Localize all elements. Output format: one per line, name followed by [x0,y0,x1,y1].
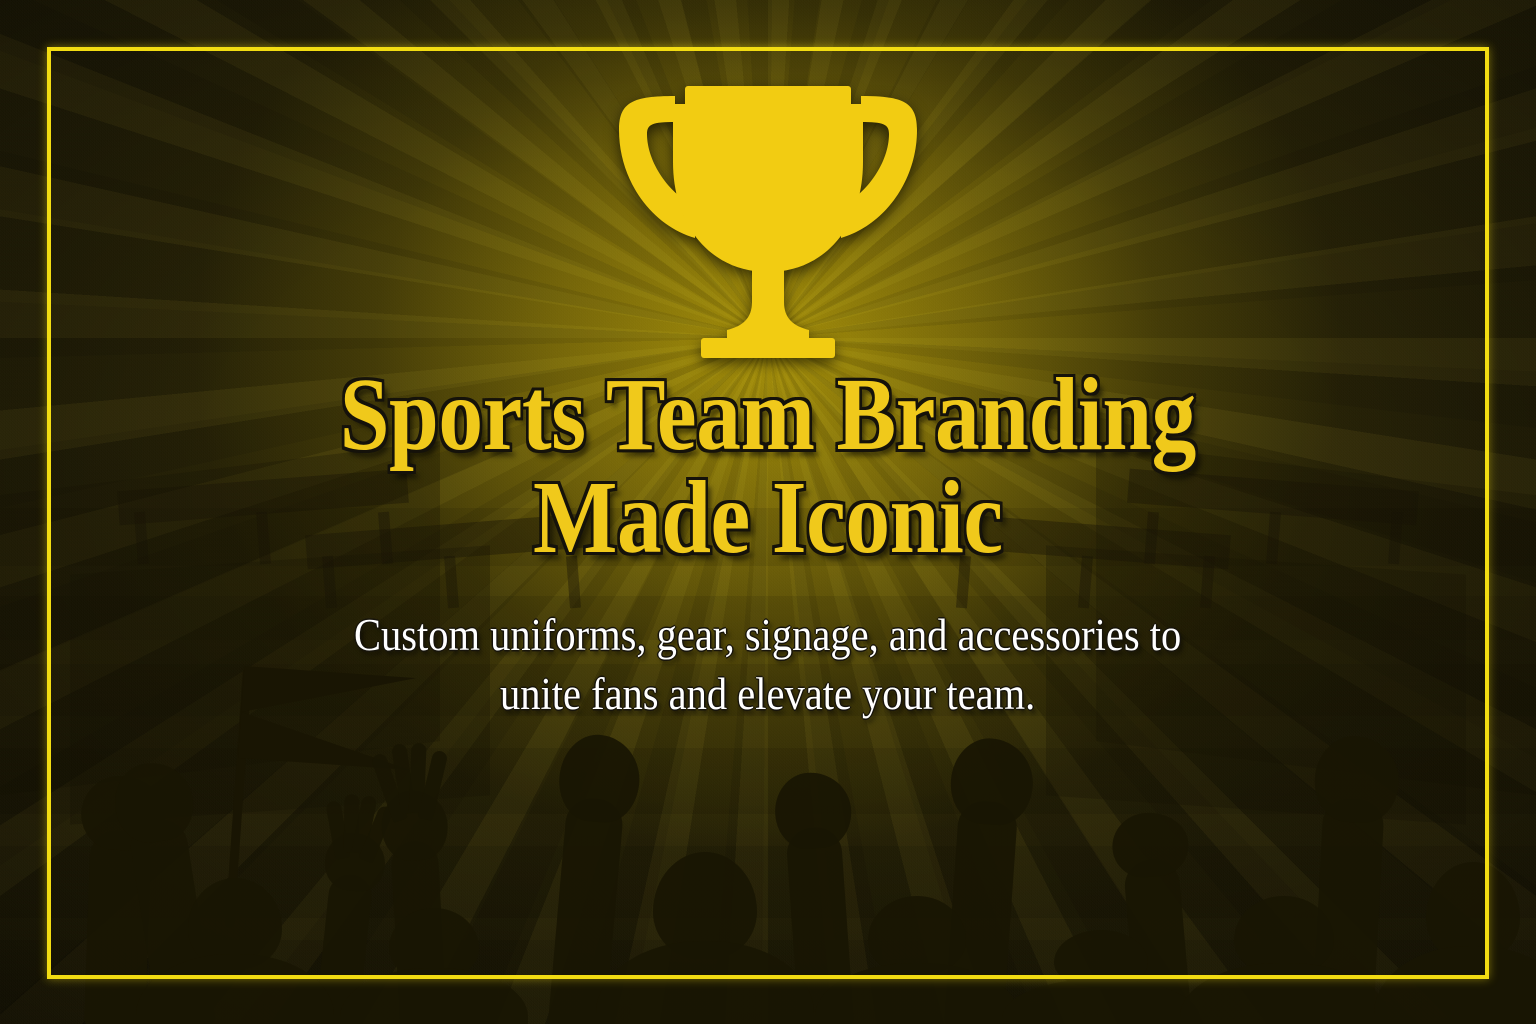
subhead-line-1: Custom uniforms, gear, signage, and acce… [354,610,1181,660]
headline-line-2: Made Iconic [340,467,1196,570]
trophy-icon [613,86,923,358]
poster-canvas: Sports Team Branding Made Iconic Custom … [0,0,1536,1024]
poster-content: Sports Team Branding Made Iconic Custom … [0,0,1536,1024]
subhead-line-2: unite fans and elevate your team. [354,665,1181,724]
headline-line-1: Sports Team Branding [340,357,1196,472]
page-subtitle: Custom uniforms, gear, signage, and acce… [354,606,1181,725]
page-title: Sports Team Branding Made Iconic [340,364,1196,570]
